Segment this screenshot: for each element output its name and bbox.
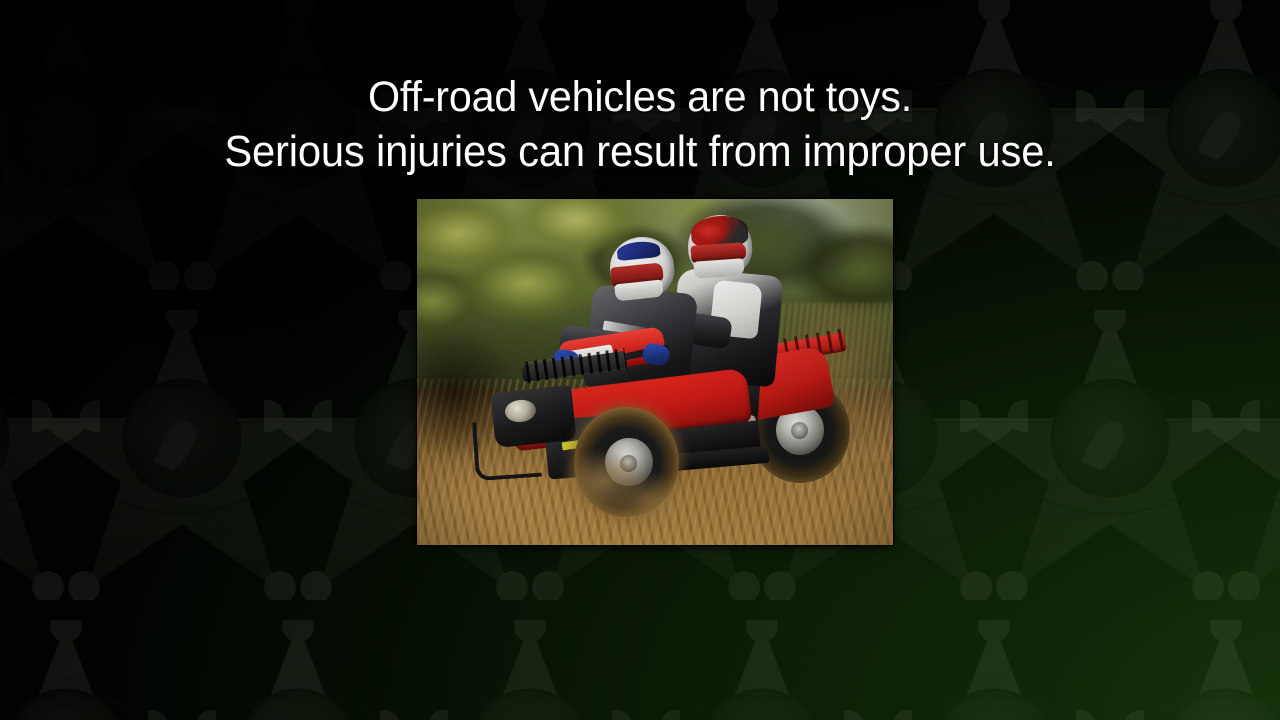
atv-photo: [417, 199, 893, 545]
atv-bumper: [472, 418, 542, 482]
caption-line-1: Off-road vehicles are not toys.: [26, 70, 1255, 125]
atv-photo-frame: [417, 199, 893, 545]
slide-canvas: Off-road vehicles are not toys. Serious …: [0, 0, 1280, 720]
caption-line-2: Serious injuries can result from imprope…: [26, 125, 1255, 180]
atv-vehicle: [417, 199, 893, 545]
mud-spray: [560, 448, 703, 531]
caption-text: Off-road vehicles are not toys. Serious …: [26, 70, 1255, 180]
rear-rider-chinbar: [693, 258, 744, 279]
